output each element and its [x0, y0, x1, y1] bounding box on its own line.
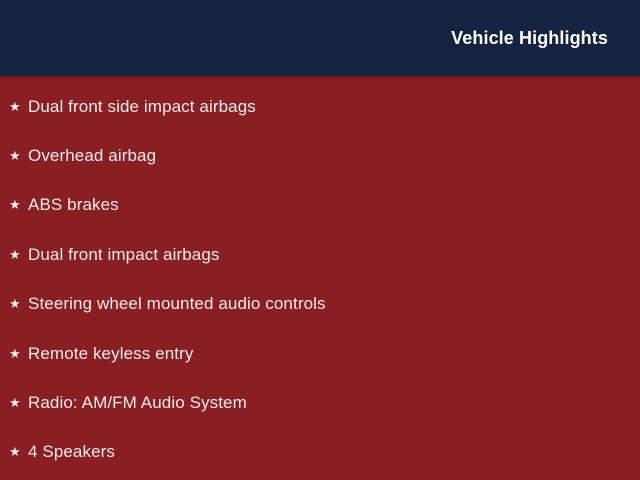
star-bullet-icon: ★: [9, 297, 28, 310]
highlight-item: ★Steering wheel mounted audio controls: [9, 292, 630, 316]
highlight-item-label: Dual front impact airbags: [28, 244, 219, 265]
highlight-item-label: Steering wheel mounted audio controls: [28, 293, 326, 314]
star-bullet-icon: ★: [9, 396, 28, 409]
star-bullet-icon: ★: [9, 248, 28, 261]
star-bullet-icon: ★: [9, 100, 28, 113]
highlight-item-label: 4 Speakers: [28, 441, 115, 462]
star-bullet-icon: ★: [9, 445, 28, 458]
highlight-item-label: Radio: AM/FM Audio System: [28, 392, 247, 413]
highlight-item-label: Dual front side impact airbags: [28, 96, 256, 117]
highlight-item: ★Dual front side impact airbags: [9, 94, 630, 118]
vehicle-highlights-slide: Vehicle Highlights ★Dual front side impa…: [0, 0, 640, 480]
highlight-item: ★ABS brakes: [9, 193, 630, 217]
header-shadow-divider: [0, 76, 640, 81]
highlight-item-label: Overhead airbag: [28, 145, 156, 166]
highlight-item: ★Radio: AM/FM Audio System: [9, 390, 630, 414]
slide-header: Vehicle Highlights: [0, 0, 640, 76]
highlight-item: ★Remote keyless entry: [9, 341, 630, 365]
highlight-item-label: ABS brakes: [28, 194, 119, 215]
star-bullet-icon: ★: [9, 347, 28, 360]
highlight-item: ★Dual front impact airbags: [9, 242, 630, 266]
highlight-item-label: Remote keyless entry: [28, 343, 193, 364]
page-title: Vehicle Highlights: [451, 29, 608, 47]
highlights-body: ★Dual front side impact airbags★Overhead…: [0, 76, 640, 480]
star-bullet-icon: ★: [9, 198, 28, 211]
star-bullet-icon: ★: [9, 149, 28, 162]
highlight-item: ★4 Speakers: [9, 440, 630, 464]
highlight-item: ★Overhead airbag: [9, 143, 630, 167]
